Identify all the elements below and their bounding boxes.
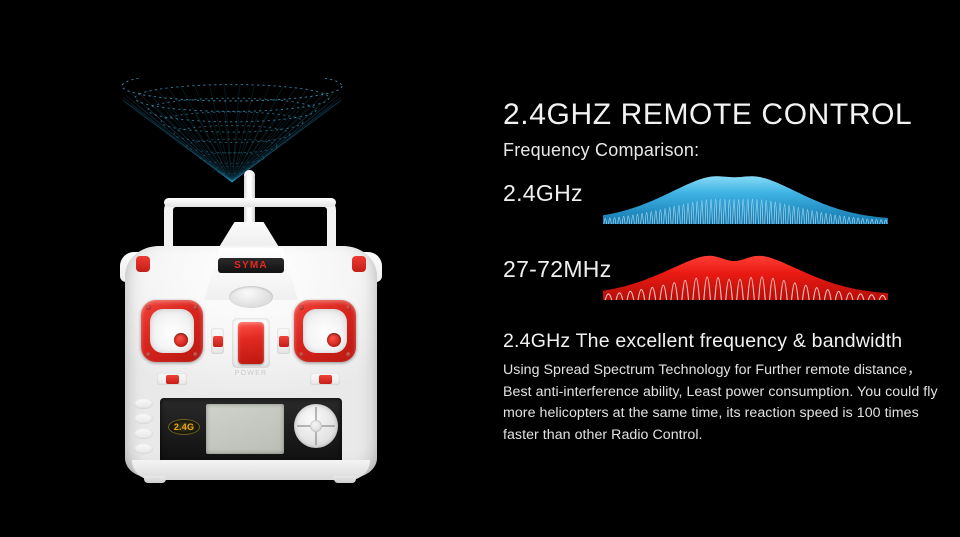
dpad-divider xyxy=(322,425,335,427)
side-button[interactable] xyxy=(134,398,153,409)
trim-slider-vertical-right[interactable] xyxy=(277,328,290,354)
side-button-group xyxy=(134,398,156,458)
trim-slider-horizontal-right[interactable] xyxy=(310,373,340,385)
screw-icon xyxy=(346,352,351,357)
dpad-divider xyxy=(297,425,310,427)
gimbal-knob-left[interactable] xyxy=(174,333,188,347)
gimbal-cap-right[interactable] xyxy=(303,309,347,353)
screw-icon xyxy=(299,305,304,310)
screw-icon xyxy=(193,305,198,310)
promo-slide: SYMA POWER xyxy=(0,0,960,537)
dpad-divider xyxy=(315,432,317,445)
blue-waveform-svg xyxy=(603,164,888,236)
page-subtitle: Frequency Comparison: xyxy=(503,140,943,161)
power-switch[interactable] xyxy=(238,322,264,364)
lcd-screen xyxy=(206,404,284,454)
remote-foot xyxy=(144,476,166,483)
speaker-grille xyxy=(229,286,273,308)
lcd-panel: 2.4G xyxy=(160,398,342,464)
side-button[interactable] xyxy=(134,413,153,424)
brand-badge-label: SYMA xyxy=(234,260,268,271)
gimbal-stick-right[interactable] xyxy=(294,300,356,362)
screw-icon xyxy=(146,352,151,357)
dpad-center-button[interactable] xyxy=(310,420,322,432)
side-button[interactable] xyxy=(134,443,153,454)
dpad-divider xyxy=(315,407,317,420)
red-waveform xyxy=(603,238,888,310)
tagline: 2.4GHz The excellent frequency & bandwid… xyxy=(503,330,902,353)
side-button[interactable] xyxy=(134,428,153,439)
gimbal-stick-left[interactable] xyxy=(141,300,203,362)
red-waveform-svg xyxy=(603,238,888,310)
screw-icon xyxy=(193,352,198,357)
syma-remote-control: SYMA POWER xyxy=(120,160,382,482)
shoulder-button-left[interactable] xyxy=(136,256,150,272)
power-switch-label: POWER xyxy=(228,370,274,377)
screw-icon xyxy=(299,352,304,357)
screw-icon xyxy=(346,305,351,310)
remote-foot xyxy=(334,476,356,483)
blue-waveform xyxy=(603,164,888,236)
frequency-badge-label: 2.4G xyxy=(174,422,194,432)
gimbal-cap-left[interactable] xyxy=(150,309,194,353)
trim-slider-vertical-left[interactable] xyxy=(211,328,224,354)
brand-badge: SYMA xyxy=(218,258,284,273)
description-text: Using Spread Spectrum Technology for Fur… xyxy=(503,360,939,446)
dpad[interactable] xyxy=(294,404,338,448)
page-title: 2.4GHZ REMOTE CONTROL xyxy=(503,98,943,131)
info-panel: 2.4GHZ REMOTE CONTROL Frequency Comparis… xyxy=(503,98,943,161)
frequency-badge: 2.4G xyxy=(168,419,200,435)
gimbal-knob-right[interactable] xyxy=(327,333,341,347)
trim-slider-horizontal-left[interactable] xyxy=(157,373,187,385)
shoulder-button-right[interactable] xyxy=(352,256,366,272)
screw-icon xyxy=(146,305,151,310)
